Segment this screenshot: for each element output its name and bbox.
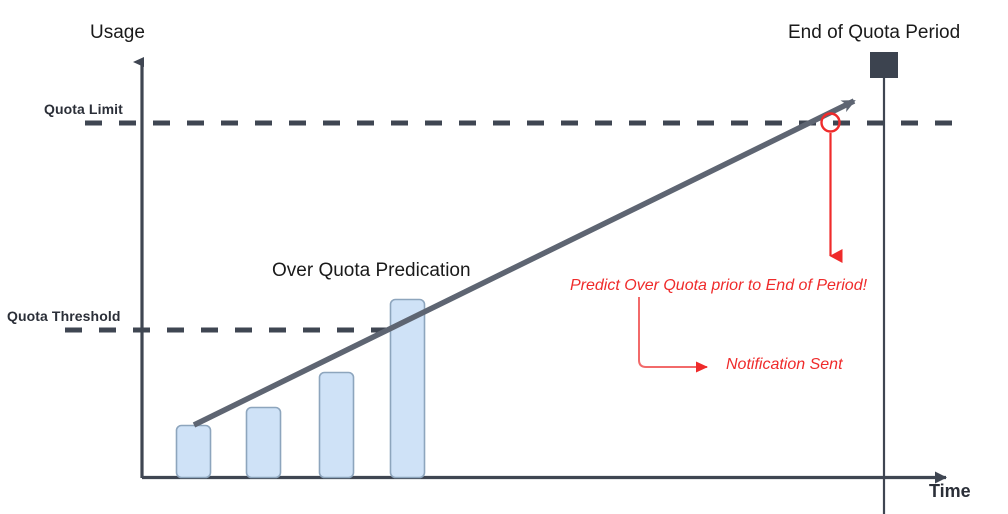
notification-annotation-text: Notification Sent [726,356,843,374]
bar-3 [320,373,354,478]
square-marker-icon [870,52,898,78]
bar-series [177,300,425,478]
y-axis-label: Usage [90,22,145,44]
notification-connector [639,297,707,367]
x-axis-label: Time [929,481,971,502]
diagram-canvas [0,0,1008,514]
predict-annotation-text: Predict Over Quota prior to End of Perio… [570,277,867,295]
quota-limit-label: Quota Limit [44,101,123,117]
prediction-label: Over Quota Predication [272,260,471,282]
quota-threshold-label: Quota Threshold [7,308,121,324]
quota-prediction-diagram: Usage Time Quota Limit Quota Threshold O… [0,0,1008,514]
bar-2 [247,408,281,478]
end-of-period-label: End of Quota Period [788,22,960,44]
bar-1 [177,426,211,478]
